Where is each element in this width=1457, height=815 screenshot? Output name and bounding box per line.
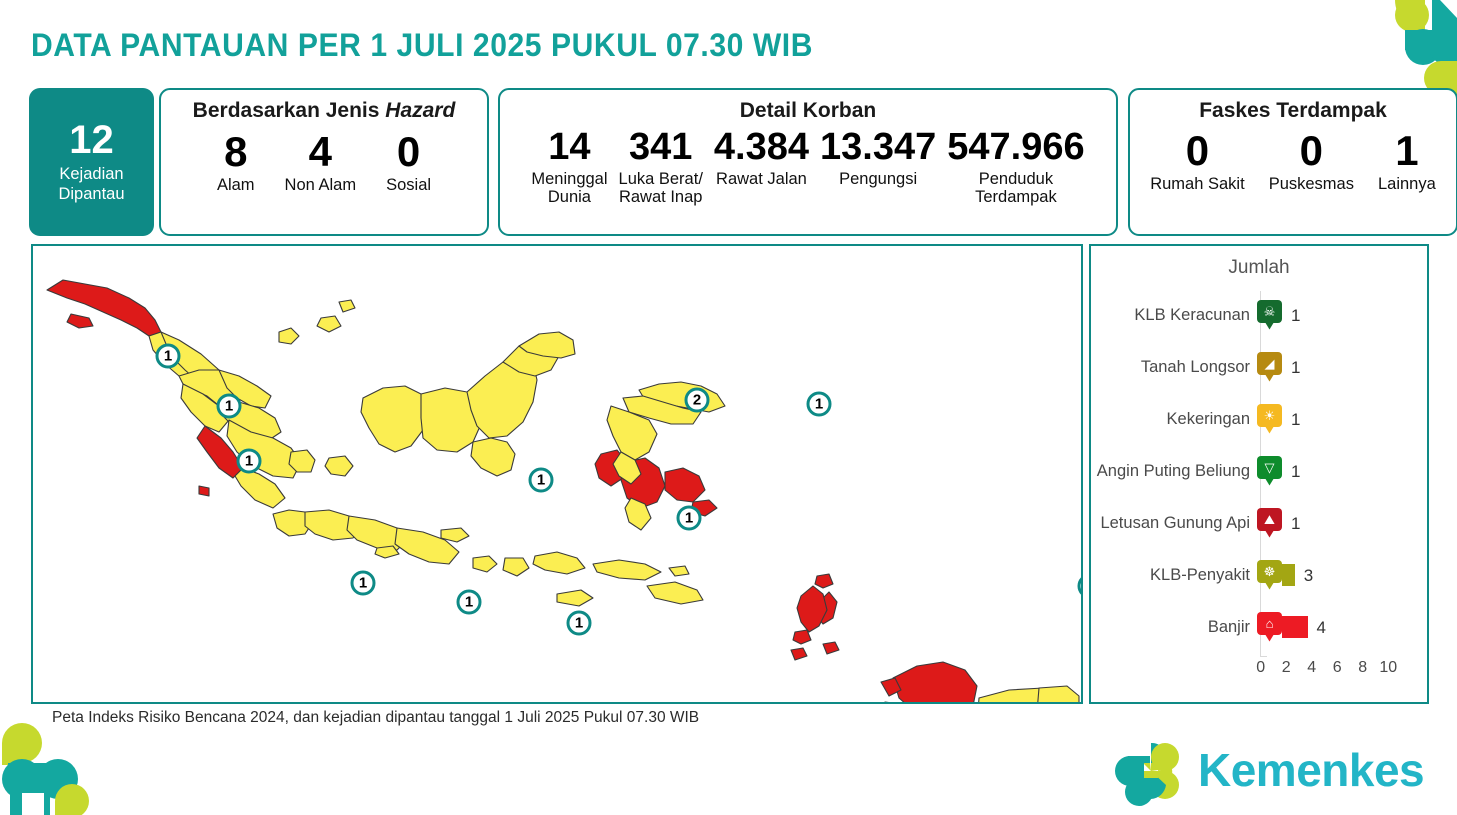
landslide-icon: ◢ [1257,352,1282,383]
map-marker-count: 1 [807,392,832,417]
maluku-small-islands [791,642,839,660]
chart-bar [1282,616,1308,638]
chart-x-tick: 0 [1248,659,1274,677]
chart-row-label: KLB Keracunan [1091,306,1257,324]
chart-bar-value: 1 [1291,411,1300,428]
faskes-metric-rumah-sakit: 0 Rumah Sakit [1144,127,1250,194]
chart-title: Jumlah [1091,257,1427,279]
metric-label-line1: Rawat Jalan [716,170,807,188]
metric-label-line1: Meninggal [531,170,607,188]
korban-card: Detail Korban 14 Meninggal Dunia 341 Luk… [498,88,1118,236]
korban-card-title: Detail Korban [500,99,1116,123]
chart-row-label: Tanah Longsor [1091,358,1257,376]
hazard-count-chart-panel: Jumlah KLB Keracunan☠1Tanah Longsor◢1Kek… [1089,244,1429,704]
island-flores [593,560,661,580]
chart-x-tick: 2 [1274,659,1300,677]
pin-glyph: ▽ [1257,456,1282,479]
chart-row-klb-keracunan[interactable]: KLB Keracunan☠1 [1091,289,1427,341]
metric-value: 4 [285,128,357,175]
island-sumba [557,590,593,606]
skull-icon: ☠ [1257,300,1282,331]
chart-x-tick: 6 [1325,659,1351,677]
hazard-metric-alam: 8 Alam [211,128,261,195]
map-marker-9[interactable]: 1 [807,392,832,417]
kemenkes-logo: Kemenkes [1114,735,1434,807]
island-sumbawa [533,552,585,574]
flood-icon: ⌂ [1257,612,1282,643]
faskes-metric-puskesmas: 0 Puskesmas [1263,127,1360,194]
papua-east-extension [1037,686,1079,702]
island-enggano [199,486,209,496]
island-timor [647,582,703,604]
islands-riau-small [279,300,355,344]
island-belitung [325,456,353,476]
map-marker-count: 1 [567,611,592,636]
virus-icon: ☸ [1257,560,1282,591]
chart-x-ticks: 0246810 [1248,659,1426,677]
pin-glyph: ⌂ [1257,612,1282,635]
metric-label: Rumah Sakit [1150,175,1244,194]
chart-row-label: Angin Puting Beliung [1091,462,1257,480]
metric-value: 1 [1378,127,1436,174]
map-marker-count: 1 [677,506,702,531]
province-aceh [47,280,161,336]
chart-row-label: Letusan Gunung Api [1091,514,1257,532]
metric-value: 547.966 [947,126,1084,169]
summary-label-line1: Kejadian [59,165,123,183]
metric-value: 8 [217,128,255,175]
metric-label-line2: Terdampak [975,188,1057,206]
chart-bar-value: 1 [1291,515,1300,532]
tornado-icon: ▽ [1257,456,1282,487]
hazard-metric-sosial: 0 Sosial [380,128,437,195]
chart-bar-value: 3 [1304,567,1313,584]
decoration-bottom-left [0,717,130,815]
chart-row-letusan-gunung-api[interactable]: Letusan Gunung Api⛰1 [1091,497,1427,549]
chart-bar-value: 1 [1291,463,1300,480]
chart-bar-value: 1 [1291,359,1300,376]
island-bali [473,556,497,572]
map-marker-3[interactable]: 1 [237,449,262,474]
metric-value: 0 [1150,127,1244,174]
map-marker-count: 1 [237,449,262,474]
map-marker-2[interactable]: 1 [217,394,242,419]
chart-x-tick: 8 [1350,659,1376,677]
hazard-title-italic: Hazard [385,99,455,122]
chart-bar [1282,564,1295,586]
metric-label: Lainnya [1378,175,1436,194]
pin-glyph: ☠ [1257,300,1282,323]
map-marker-count: 1 [351,571,376,596]
summary-card-kejadian-dipantau: 12 Kejadian Dipantau [29,88,154,236]
metric-label: Puskesmas [1269,175,1354,194]
chart-bar-value: 4 [1317,619,1326,636]
korban-metric-penduduk-terdampak: 547.966 Penduduk Terdampak [944,126,1087,207]
metric-label: Alam [217,176,255,195]
hazard-title-prefix: Berdasarkan Jenis [193,99,386,122]
province-kalbar [361,386,427,452]
metric-value: 0 [386,128,431,175]
island-lombok [503,558,529,576]
chart-row-banjir[interactable]: Banjir⌂4 [1091,601,1427,653]
map-marker-10[interactable]: 1 [677,506,702,531]
chart-x-tick: 4 [1299,659,1325,677]
province-kalsel [471,438,515,476]
province-sultra [665,468,705,502]
chart-row-label: KLB-Penyakit [1091,566,1257,584]
map-marker-count: 1 [217,394,242,419]
chart-row-angin-puting-beliung[interactable]: Angin Puting Beliung▽1 [1091,445,1427,497]
map-marker-count: 1 [156,344,181,369]
kemenkes-wordmark: Kemenkes [1198,743,1424,797]
indonesia-map [33,246,1081,702]
island-halmahera [797,586,827,632]
map-marker-count: 2 [685,388,710,413]
hazard-metrics: 8 Alam 4 Non Alam 0 Sosial [161,128,487,195]
pin-glyph: ☀ [1257,404,1282,427]
pin-glyph: ☸ [1257,560,1282,583]
chart-row-kekeringan[interactable]: Kekeringan☀1 [1091,393,1427,445]
kemenkes-clover-icon [1114,735,1188,807]
map-marker-8[interactable]: 2 [685,388,710,413]
korban-metric-rawat-jalan: 4.384 Rawat Jalan [711,126,812,188]
metric-label: Sosial [386,176,431,195]
korban-metric-meninggal-dunia: 14 Meninggal Dunia [528,126,610,207]
volcano-icon: ⛰ [1257,508,1282,539]
chart-x-tick: 10 [1376,659,1402,677]
map-marker-1[interactable]: 1 [156,344,181,369]
dashboard-page: DATA PANTAUAN PER 1 JULI 2025 PUKUL 07.3… [0,0,1457,815]
map-marker-count: 1 [1078,574,1084,599]
pin-glyph: ◢ [1257,352,1282,375]
indonesia-risk-map-panel[interactable]: 11111112111 [31,244,1083,704]
metric-label-line2: Rawat Inap [619,188,702,206]
hazard-card: Berdasarkan Jenis Hazard 8 Alam 4 Non Al… [159,88,489,236]
map-marker-4[interactable]: 1 [529,468,554,493]
island-ternate-group [793,630,811,644]
pin-glyph: ⛰ [1257,508,1282,531]
decoration-top-right [1337,0,1457,98]
island-alor [669,566,689,576]
chart-row-label: Kekeringan [1091,410,1257,428]
faskes-metric-lainnya: 1 Lainnya [1372,127,1442,194]
summary-label-line2: Dipantau [58,185,124,203]
metric-label: Non Alam [285,176,357,195]
drought-icon: ☀ [1257,404,1282,435]
korban-metric-luka-berat: 341 Luka Berat/ Rawat Inap [616,126,706,207]
map-marker-5[interactable]: 1 [351,571,376,596]
chart-plot-area: KLB Keracunan☠1Tanah Longsor◢1Kekeringan… [1091,287,1427,667]
metric-value: 14 [531,126,607,169]
metric-label-line1: Penduduk [979,170,1053,188]
metric-value: 4.384 [714,126,809,169]
metric-value: 0 [1269,127,1354,174]
faskes-card-title: Faskes Terdampak [1130,99,1456,123]
map-marker-count: 1 [529,468,554,493]
metric-label-line1: Luka Berat/ [619,170,703,188]
korban-metric-pengungsi: 13.347 Pengungsi [817,126,939,188]
metric-label-line1: Pengungsi [839,170,917,188]
map-marker-6[interactable]: 1 [457,590,482,615]
faskes-metrics: 0 Rumah Sakit 0 Puskesmas 1 Lainnya [1130,127,1456,194]
summary-value: 12 [69,120,114,160]
chart-row-klb-penyakit[interactable]: KLB-Penyakit☸3 [1091,549,1427,601]
korban-metrics: 14 Meninggal Dunia 341 Luka Berat/ Rawat… [500,126,1116,207]
map-marker-11[interactable]: 1 [1078,574,1084,599]
island-morotai [815,574,833,588]
chart-row-label: Banjir [1091,618,1257,636]
island-simeulue [67,314,93,328]
stat-cards-row: 12 Kejadian Dipantau Berdasarkan Jenis H… [29,88,1429,236]
chart-bar-value: 1 [1291,307,1300,324]
map-marker-count: 1 [457,590,482,615]
metric-label-line2: Dunia [548,188,591,206]
map-marker-7[interactable]: 1 [567,611,592,636]
hazard-card-title: Berdasarkan Jenis Hazard [161,99,487,123]
faskes-card: Faskes Terdampak 0 Rumah Sakit 0 Puskesm… [1128,88,1457,236]
footnote: Peta Indeks Risiko Bencana 2024, dan kej… [52,709,699,727]
hazard-metric-non-alam: 4 Non Alam [279,128,363,195]
metric-value: 13.347 [820,126,936,169]
chart-row-tanah-longsor[interactable]: Tanah Longsor◢1 [1091,341,1427,393]
metric-value: 341 [619,126,703,169]
province-papua-barat-high [893,662,977,702]
page-title: DATA PANTAUAN PER 1 JULI 2025 PUKUL 07.3… [31,27,813,64]
